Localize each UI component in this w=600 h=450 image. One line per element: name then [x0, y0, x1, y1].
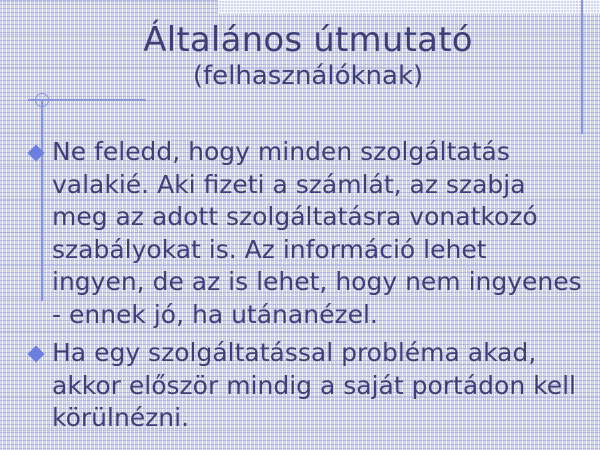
bullet-list: Ne feledd, hogy minden szolgáltatás vala…: [30, 136, 582, 441]
list-item: Ne feledd, hogy minden szolgáltatás vala…: [30, 136, 582, 331]
title-block: Általános útmutató (felhasználóknak): [0, 20, 600, 92]
diamond-bullet-icon: [28, 346, 45, 363]
page-subtitle: (felhasználóknak): [0, 60, 600, 92]
slide-canvas: Általános útmutató (felhasználóknak) Ne …: [0, 0, 600, 450]
list-item: Ha egy szolgáltatással probléma akad, ak…: [30, 337, 582, 435]
diamond-bullet-icon: [28, 145, 45, 162]
rule-circle-icon: [35, 93, 49, 107]
list-item-text: Ha egy szolgáltatással probléma akad, ak…: [52, 337, 582, 435]
page-title: Általános útmutató: [0, 20, 600, 60]
top-decorative-band: [218, 0, 600, 14]
list-item-text: Ne feledd, hogy minden szolgáltatás vala…: [52, 136, 582, 331]
